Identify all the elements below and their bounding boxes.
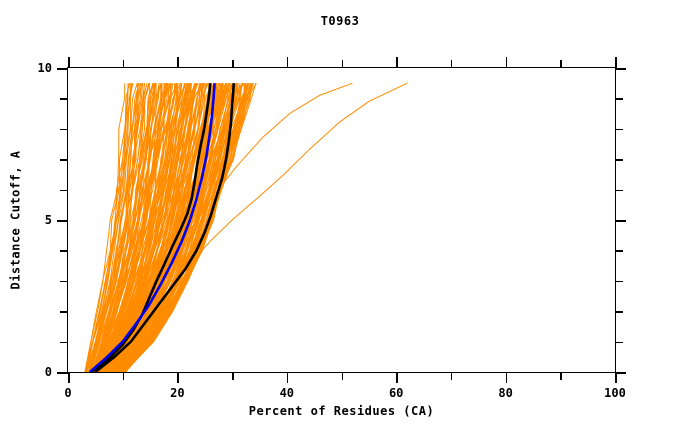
y-minor-tick-right: [615, 129, 623, 131]
x-minor-tick: [232, 372, 234, 380]
y-minor-tick: [60, 129, 68, 131]
x-major-tick-top: [396, 57, 398, 68]
y-minor-tick: [60, 281, 68, 283]
y-minor-tick: [60, 159, 68, 161]
y-axis-title: Distance Cutoff, A: [8, 67, 24, 373]
y-major-tick: [57, 372, 68, 374]
x-tick-label: 0: [64, 386, 71, 400]
x-minor-tick: [451, 372, 453, 380]
x-tick-label: 40: [280, 386, 294, 400]
y-major-tick: [57, 220, 68, 222]
y-minor-tick: [60, 311, 68, 313]
x-major-tick: [68, 372, 70, 383]
x-axis-title: Percent of Residues (CA): [67, 404, 616, 418]
y-minor-tick-right: [615, 98, 623, 100]
y-minor-tick-right: [615, 281, 623, 283]
x-major-tick-top: [506, 57, 508, 68]
x-major-tick-top: [177, 57, 179, 68]
x-major-tick-top: [287, 57, 289, 68]
x-major-tick: [615, 372, 617, 383]
x-tick-label: 20: [170, 386, 184, 400]
plot-area: 0510020406080100: [67, 67, 616, 373]
y-axis-title-label: Distance Cutoff, A: [9, 150, 23, 289]
x-major-tick-top: [615, 57, 617, 68]
y-major-tick: [57, 68, 68, 70]
x-minor-tick-top: [123, 60, 125, 68]
x-tick-label: 80: [498, 386, 512, 400]
plot-root: T0963 Distance Cutoff, A Percent of Resi…: [0, 0, 680, 440]
y-minor-tick: [60, 342, 68, 344]
x-axis-title-label: Percent of Residues (CA): [249, 404, 434, 418]
x-major-tick: [396, 372, 398, 383]
y-major-tick-right: [615, 68, 626, 70]
y-minor-tick-right: [615, 190, 623, 192]
y-minor-tick: [60, 250, 68, 252]
x-minor-tick-top: [232, 60, 234, 68]
x-minor-tick: [342, 372, 344, 380]
y-minor-tick-right: [615, 159, 623, 161]
x-minor-tick: [560, 372, 562, 380]
y-minor-tick-right: [615, 250, 623, 252]
y-minor-tick-right: [615, 342, 623, 344]
page-title: T0963: [0, 14, 680, 28]
x-minor-tick-top: [342, 60, 344, 68]
y-tick-label: 0: [45, 365, 52, 379]
x-major-tick: [506, 372, 508, 383]
x-minor-tick-top: [560, 60, 562, 68]
x-tick-label: 60: [389, 386, 403, 400]
y-major-tick-right: [615, 372, 626, 374]
x-major-tick: [287, 372, 289, 383]
x-major-tick: [177, 372, 179, 383]
y-minor-tick-right: [615, 311, 623, 313]
y-minor-tick: [60, 98, 68, 100]
x-minor-tick: [123, 372, 125, 380]
x-minor-tick-top: [451, 60, 453, 68]
curves-canvas: [68, 68, 615, 372]
x-major-tick-top: [68, 57, 70, 68]
x-tick-label: 100: [604, 386, 626, 400]
y-tick-label: 10: [38, 61, 52, 75]
y-minor-tick: [60, 190, 68, 192]
y-major-tick-right: [615, 220, 626, 222]
y-tick-label: 5: [45, 213, 52, 227]
